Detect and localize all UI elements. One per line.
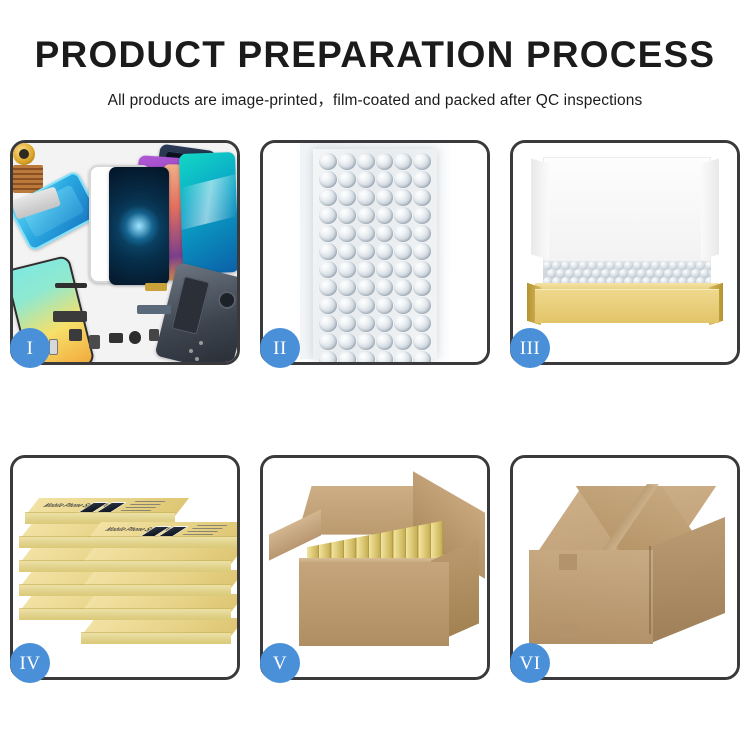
chip-4: [129, 331, 141, 344]
process-step-card-2[interactable]: II: [260, 140, 490, 365]
bubble: [338, 189, 356, 206]
bubble: [338, 351, 356, 362]
bubble: [413, 333, 431, 350]
step-1-image: [13, 143, 237, 362]
sealed-carton-seam: [649, 546, 651, 634]
bubble: [357, 243, 375, 260]
bubble: [376, 261, 394, 278]
screw-1: [189, 349, 193, 353]
bubble: [338, 315, 356, 332]
bubble: [338, 153, 356, 170]
bubble: [338, 297, 356, 314]
bubble: [357, 207, 375, 224]
bubble: [413, 315, 431, 332]
bubble-wrap-scene: [263, 143, 487, 362]
step-badge-6: VI: [510, 643, 550, 683]
page-subtitle: All products are image-printed，film-coat…: [0, 76, 750, 110]
bubble: [413, 243, 431, 260]
bubble: [338, 207, 356, 224]
spare-parts-box: Mobile Phone Spare Parts: [25, 498, 175, 524]
process-step-card-6[interactable]: VI: [510, 455, 740, 680]
process-step-card-5[interactable]: V: [260, 455, 490, 680]
bubble: [338, 261, 356, 278]
spare-parts-box: [81, 618, 231, 644]
bubble: [394, 207, 412, 224]
bubble: [319, 189, 337, 206]
bubble: [394, 351, 412, 362]
bubble: [357, 225, 375, 242]
bubble: [394, 279, 412, 296]
bubble: [394, 189, 412, 206]
bubble: [338, 333, 356, 350]
bubble: [319, 333, 337, 350]
bubble: [357, 261, 375, 278]
bubble: [357, 297, 375, 314]
bubble: [357, 279, 375, 296]
sealed-carton-front-panel: [529, 550, 653, 644]
bubble: [376, 171, 394, 188]
process-step-card-4[interactable]: Mobile Phone Spare PartsMobile Phone Spa…: [10, 455, 240, 680]
bubble: [376, 279, 394, 296]
box-front-face: [81, 633, 231, 644]
bubble: [413, 351, 431, 362]
box-front-panel: [535, 289, 719, 323]
step-badge-1: I: [10, 328, 50, 368]
phone-dark-display: [109, 167, 169, 285]
bubble: [357, 189, 375, 206]
step-badge-5: V: [260, 643, 300, 683]
sealed-carton-tab-top: [559, 554, 577, 570]
step-4-image: Mobile Phone Spare PartsMobile Phone Spa…: [13, 458, 237, 677]
spare-parts-box: [81, 570, 231, 596]
sealed-carton-scene: [513, 458, 737, 677]
bubble: [376, 351, 394, 362]
bubble: [357, 171, 375, 188]
chip-1: [69, 329, 82, 341]
bubble: [357, 351, 375, 362]
carton-front-panel: [299, 562, 449, 646]
product-preparation-page: PRODUCT PREPARATION PROCESS All products…: [0, 0, 750, 750]
step-3-image: [513, 143, 737, 362]
bubble: [413, 153, 431, 170]
chip-5: [49, 339, 58, 355]
bubble: [376, 225, 394, 242]
bubble: [394, 297, 412, 314]
box-lid: [543, 157, 711, 277]
part-strip: [55, 283, 87, 288]
bubble: [357, 153, 375, 170]
bubble: [357, 333, 375, 350]
box-front-face: [87, 537, 237, 548]
spare-parts-box: [81, 546, 231, 572]
bubble: [319, 153, 337, 170]
bubble: [394, 243, 412, 260]
phones-and-parts-scene: [13, 143, 237, 362]
sealed-carton-tab-bottom: [559, 624, 577, 638]
bubble: [413, 225, 431, 242]
process-step-card-1[interactable]: I: [10, 140, 240, 365]
bubble: [319, 315, 337, 332]
box-lid-left-flap: [531, 158, 549, 259]
bubble: [394, 225, 412, 242]
bubble: [413, 171, 431, 188]
bubble: [376, 207, 394, 224]
bubble: [376, 189, 394, 206]
bubble-wrap-sheet: [313, 149, 437, 359]
bubble: [319, 351, 337, 362]
step-2-image: [263, 143, 487, 362]
flex-cable-1: [53, 311, 87, 322]
bubble: [376, 243, 394, 260]
chip-6: [149, 329, 159, 341]
bubble: [376, 333, 394, 350]
flex-cable-3: [145, 283, 167, 291]
bubble: [319, 207, 337, 224]
chip-2: [89, 335, 100, 349]
bubble: [413, 297, 431, 314]
bubble: [319, 297, 337, 314]
bubble: [394, 315, 412, 332]
process-step-grid: I II: [10, 140, 740, 740]
flex-cable-2: [137, 305, 171, 314]
bubble: [338, 279, 356, 296]
step-5-image: [263, 458, 487, 677]
bubble: [413, 189, 431, 206]
inner-box-scene: [513, 143, 737, 362]
screw-3: [195, 357, 199, 361]
bubble: [394, 261, 412, 278]
bubble: [376, 315, 394, 332]
box-front-face: [81, 561, 231, 572]
bubble: [376, 153, 394, 170]
page-header: PRODUCT PREPARATION PROCESS All products…: [0, 0, 750, 110]
box-front-face: [81, 609, 231, 620]
bubble: [338, 225, 356, 242]
bubble: [319, 261, 337, 278]
box-stack: Mobile Phone Spare PartsMobile Phone Spa…: [19, 476, 237, 666]
bubble: [319, 171, 337, 188]
bubble: [394, 333, 412, 350]
bubble-grid: [319, 153, 431, 355]
bubble: [338, 171, 356, 188]
bubble: [357, 315, 375, 332]
step-badge-3: III: [510, 328, 550, 368]
bubble: [338, 243, 356, 260]
carton-filling-scene: [263, 458, 487, 677]
bubble: [319, 225, 337, 242]
chip-3: [109, 333, 123, 343]
step-6-image: [513, 458, 737, 677]
box-lid-right-flap: [701, 158, 719, 259]
step-badge-4: IV: [10, 643, 50, 683]
bubble: [319, 279, 337, 296]
bubble: [413, 279, 431, 296]
speaker-coil-icon: [13, 143, 35, 165]
bubble: [394, 153, 412, 170]
process-step-card-3[interactable]: III: [510, 140, 740, 365]
phone-teal: [179, 152, 237, 274]
step-badge-2: II: [260, 328, 300, 368]
spare-parts-box: [81, 594, 231, 620]
bubble: [413, 207, 431, 224]
bubble: [394, 171, 412, 188]
spare-parts-box: Mobile Phone Spare Parts: [87, 522, 237, 548]
screw-2: [199, 341, 203, 345]
bubble: [376, 297, 394, 314]
page-title: PRODUCT PREPARATION PROCESS: [0, 0, 750, 76]
boxed-stack-scene: Mobile Phone Spare PartsMobile Phone Spa…: [13, 458, 237, 677]
box-front-face: [81, 585, 231, 596]
bubble: [319, 243, 337, 260]
bubble: [413, 261, 431, 278]
